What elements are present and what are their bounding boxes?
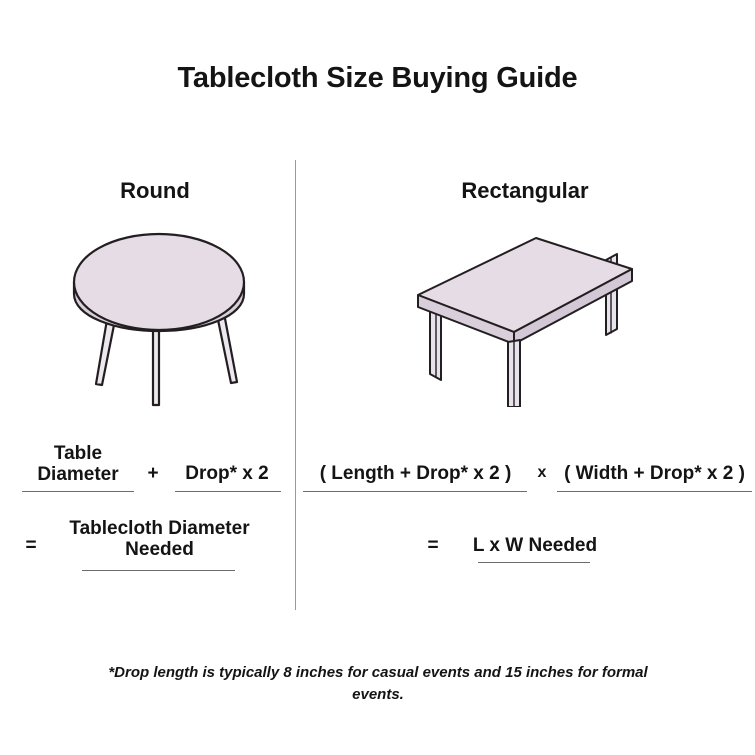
footnote: *Drop length is typically 8 inches for c…	[108, 662, 648, 706]
page-title: Tablecloth Size Buying Guide	[0, 62, 755, 95]
rectangular-formula-equals: =	[416, 535, 450, 556]
rectangular-formula-term1: ( Length + Drop* x 2 )	[303, 463, 528, 484]
round-formula-result: Tablecloth Diameter Needed	[52, 518, 267, 561]
infographic-canvas: Tablecloth Size Buying Guide Round Recta…	[0, 0, 755, 755]
rectangular-result-underline	[478, 562, 590, 563]
rectangular-formula-term2: ( Width + Drop* x 2 )	[556, 463, 753, 484]
rectangular-table-illustration	[410, 222, 640, 412]
round-column-heading: Round	[30, 178, 280, 204]
round-formula-operator: +	[138, 463, 168, 484]
round-result-underline	[82, 570, 235, 571]
round-formula-term1: Table Diameter	[18, 443, 138, 486]
rectangular-column-heading: Rectangular	[400, 178, 650, 204]
rectangular-formula-operator: x	[528, 464, 556, 482]
rectangular-formula-result: L x W Needed	[455, 535, 615, 556]
rectangular-term2-underline	[557, 491, 752, 492]
round-formula-equals: =	[14, 535, 48, 556]
round-table-illustration	[60, 220, 280, 425]
rectangular-term1-underline	[303, 491, 527, 492]
round-formula-term2: Drop* x 2	[168, 463, 286, 484]
column-divider	[295, 160, 296, 610]
round-term2-underline	[175, 491, 281, 492]
round-term1-underline	[22, 491, 134, 492]
